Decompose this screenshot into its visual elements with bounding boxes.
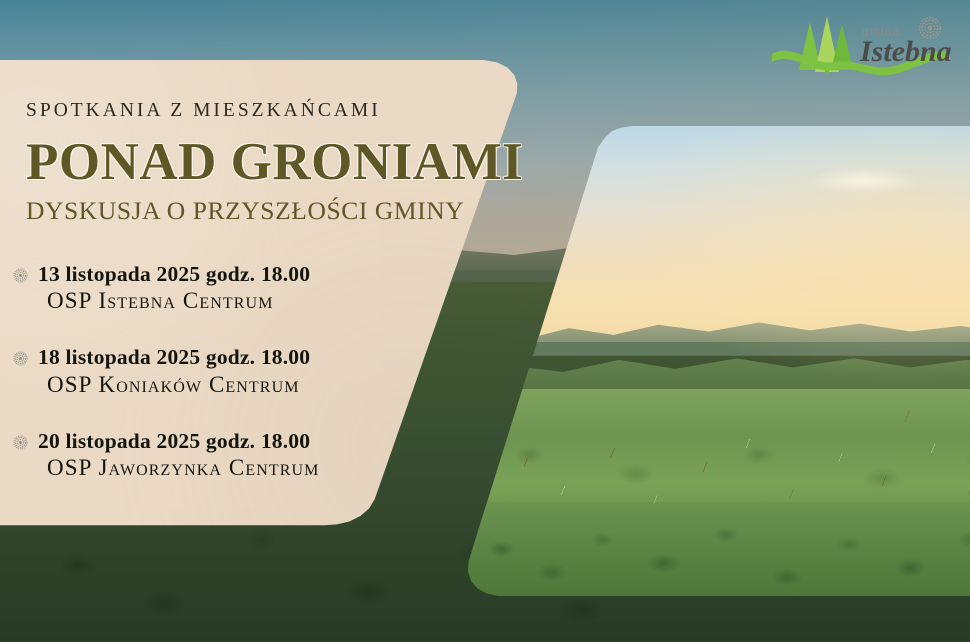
event-date: 20 listopada 2025 godz. 18.00 <box>38 429 520 454</box>
rosette-icon <box>12 267 29 284</box>
event-list: 13 listopada 2025 godz. 18.00 OSP Istebn… <box>0 262 520 482</box>
rosette-icon <box>12 350 29 367</box>
eyebrow-text: SPOTKANIA Z MIESZKAŃCAMI <box>26 100 520 122</box>
event-place: OSP Koniaków Centrum <box>47 371 520 399</box>
list-item: 18 listopada 2025 godz. 18.00 OSP Koniak… <box>0 345 520 398</box>
logo-name: Istebna <box>859 35 952 68</box>
event-date: 13 listopada 2025 godz. 18.00 <box>38 262 520 287</box>
gmina-istebna-logo: gmina Istebna <box>768 8 954 86</box>
page-title: PONAD GRONIAMI <box>26 135 520 189</box>
event-date: 18 listopada 2025 godz. 18.00 <box>38 345 520 370</box>
event-place: OSP Jaworzynka Centrum <box>47 454 520 482</box>
page-subtitle: DYSKUSJA O PRZYSZŁOŚCI GMINY <box>26 196 520 226</box>
poster-root: SPOTKANIA Z MIESZKAŃCAMI PONAD GRONIAMI … <box>0 0 970 642</box>
event-place: OSP Istebna Centrum <box>47 287 520 315</box>
list-item: 20 listopada 2025 godz. 18.00 OSP Jaworz… <box>0 429 520 482</box>
rosette-icon <box>12 434 29 451</box>
list-item: 13 listopada 2025 godz. 18.00 OSP Istebn… <box>0 262 520 315</box>
content-block: SPOTKANIA Z MIESZKAŃCAMI PONAD GRONIAMI … <box>0 60 520 482</box>
